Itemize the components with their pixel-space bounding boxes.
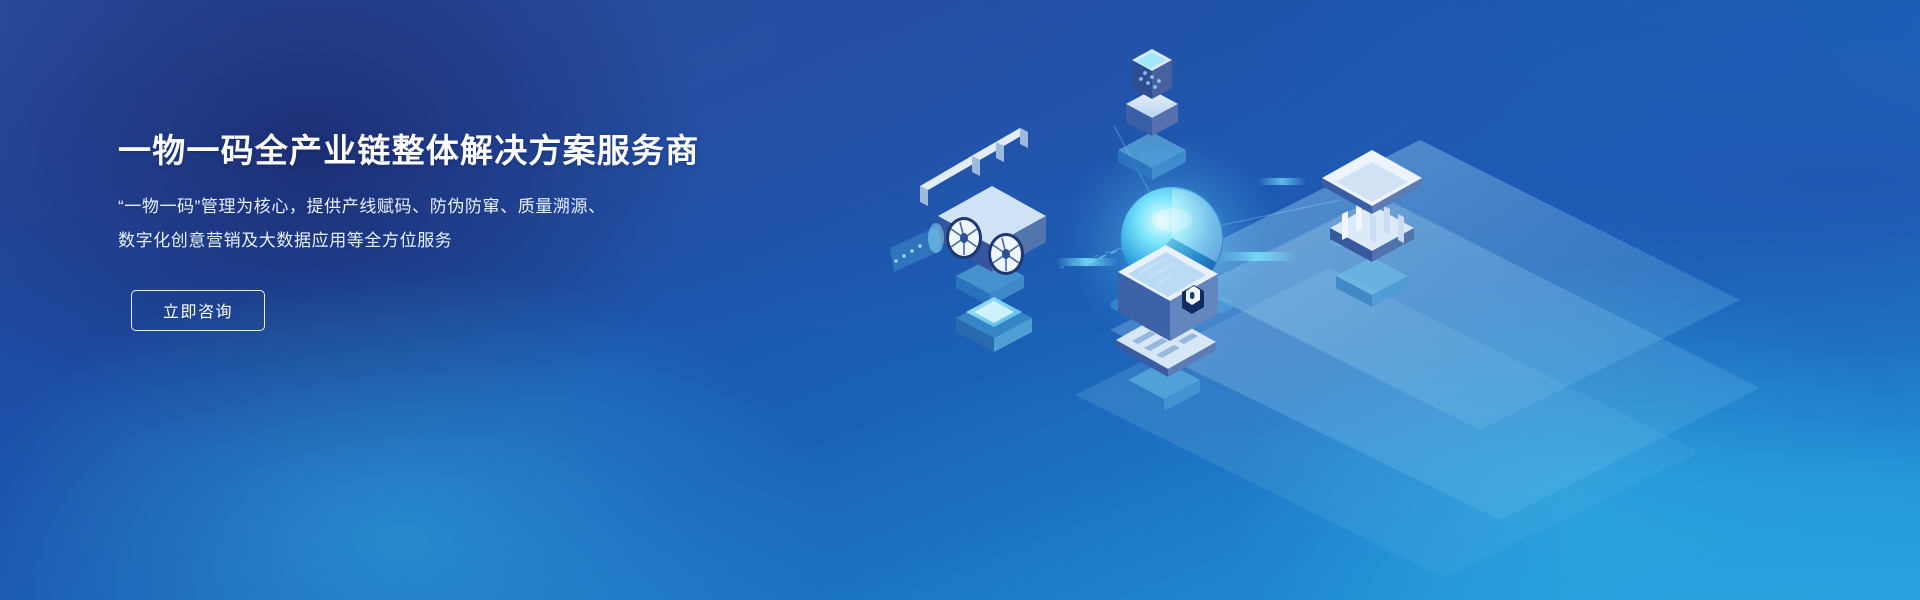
background-glow-bottom-right: [1080, 160, 1920, 600]
hero-copy-block: 一物一码全产业链整体解决方案服务商 “一物一码”管理为核心，提供产线赋码、防伪防…: [118, 131, 758, 331]
hero-subtitle-line-2: 数字化创意营销及大数据应用等全方位服务: [118, 224, 758, 258]
lock-glyph: [1182, 285, 1204, 314]
isometric-network-illustration: [860, 0, 1920, 600]
hero-subtitle: “一物一码”管理为核心，提供产线赋码、防伪防窜、质量溯源、 数字化创意营销及大数…: [118, 190, 758, 258]
server-fan-icon: [890, 128, 1046, 306]
server-airflow: [890, 223, 944, 272]
hero-subtitle-line-1: “一物一码”管理为核心，提供产线赋码、防伪防窜、质量溯源、: [118, 190, 758, 224]
bank-building-icon: [1322, 150, 1422, 307]
laptop-lock-icon: [1116, 245, 1218, 411]
glowing-sphere-icon: [1064, 136, 1280, 344]
fan-blades-right: [988, 233, 1024, 275]
consult-now-button[interactable]: 立即咨询: [131, 290, 265, 331]
bank-columns: [1342, 203, 1404, 243]
hero-banner: 一物一码全产业链整体解决方案服务商 “一物一码”管理为核心，提供产线赋码、防伪防…: [0, 0, 1920, 600]
screen-lines: [1140, 258, 1174, 284]
server-rails: [920, 128, 1028, 206]
fan-blades-left: [946, 217, 982, 259]
platform-surface: [1075, 140, 1760, 578]
connection-lines: [1056, 126, 1400, 330]
page-title: 一物一码全产业链整体解决方案服务商: [118, 131, 758, 171]
data-pad-icon: [956, 297, 1032, 352]
laptop-keyboard: [1132, 326, 1198, 358]
pos-terminal-icon: [1118, 49, 1186, 180]
